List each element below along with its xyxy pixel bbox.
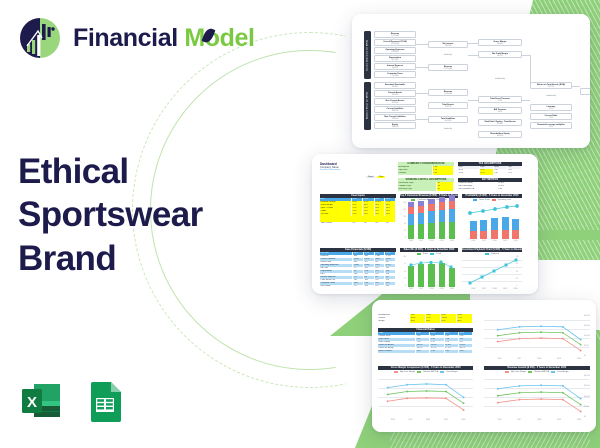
x-axis-labels: 20162017201820192020 xyxy=(468,240,521,242)
panel-ratios-table: Financial Ratios Ratio2017201820192020 C… xyxy=(378,328,473,353)
x-axis-labels: 20162017201820192020 xyxy=(406,240,457,242)
x-axis-labels: 20162017201820192020 xyxy=(490,419,589,421)
tree-node: Current Ratio2.04 xyxy=(530,113,572,120)
dupont-sheet: Income Statement (in $000) Balance Sheet… xyxy=(352,14,590,148)
x-axis-labels: 20162017201820192020 xyxy=(490,358,589,360)
brand-name: Financial Model xyxy=(73,26,255,51)
tree-connector xyxy=(572,86,580,87)
tree-node: Total Liabilities401,300 xyxy=(428,116,468,123)
tree-node: Cost of Revenue (COGS)(674,000) xyxy=(374,39,416,46)
dashboard-buttons[interactable]: Reset Print xyxy=(366,176,385,178)
svg-text:X: X xyxy=(27,394,37,411)
brand-logo: Financial Model xyxy=(18,16,255,60)
tree-connector xyxy=(522,100,530,101)
tree-node: Current Liabilities168,200 xyxy=(374,106,416,113)
tree-side-label-income-statement: Income Statement (in $000) xyxy=(364,31,371,79)
stacked-bar-chart: 20016012080400 20162017201820192020 xyxy=(400,202,458,242)
combo-bar-chart: 20162017201820192020 xyxy=(462,202,522,242)
panel-case-inputs: Case Inputs Item2017201820192020 Revenue… xyxy=(320,194,396,225)
bar xyxy=(428,199,434,239)
tree-connector xyxy=(468,43,478,44)
microsoft-excel-icon[interactable]: X xyxy=(18,378,64,424)
ratios-sheet: Assumptions2017201820192020 Growth8.0%9.… xyxy=(372,300,596,432)
panel-sales-mix: Sales Mix ($ 000) - 5 Years to December … xyxy=(400,248,458,292)
line-chart-ebitda-top: $20,000$15,000$10,000$5,000$0 2016201720… xyxy=(484,314,590,360)
tree-node: Interest Expense(8,970) xyxy=(374,63,416,70)
panel-tax-assumptions: TAX ASSUMPTIONS YearRateBaseNet 201921%1… xyxy=(458,162,522,175)
tree-node: Non Current Liabilities233,100 xyxy=(374,114,416,121)
panel-ebitda-chart: $20,000$15,000$10,000$5,000$0 2016201720… xyxy=(484,314,590,364)
poster-canvas: Financial Model Ethical Sportswear Brand… xyxy=(0,0,600,448)
bar xyxy=(439,197,445,239)
brand-name-part2: Model xyxy=(184,24,254,52)
line-chart: 1209060300 20162017201820192020 xyxy=(462,256,522,290)
tree-connector xyxy=(416,67,428,68)
tree-operator: multiplied by xyxy=(478,77,522,82)
brand-name-part1: Financial xyxy=(73,24,178,52)
tree-node: Return on Total Assets (ROA)21.79% xyxy=(530,82,572,89)
tree-node: Depreciation(11,200) xyxy=(374,55,416,62)
google-sheets-icon[interactable] xyxy=(82,378,128,424)
tree-node: Total Assets761,700 xyxy=(428,102,468,109)
page-title: Ethical Sportswear Brand xyxy=(18,150,268,280)
screenshot-card-financial-ratios[interactable]: Assumptions2017201820192020 Growth8.0%9.… xyxy=(372,300,596,432)
tree-node: Financial Leverage multiplier2.11x xyxy=(530,122,572,129)
tree-node: Operating Expenses(211,500) xyxy=(374,47,416,54)
panel-working-capital: WORKING CAPITAL ASSUMPTIONS Receivable D… xyxy=(398,178,454,191)
line-chart-revenue-growth: $20,000$15,000$10,000$5,000$0 2016201720… xyxy=(484,375,590,421)
dashboard-sheet: Dashboard Company Name Financial Informa… xyxy=(312,154,538,294)
tree-node: Revenue1,125,000 xyxy=(428,89,468,96)
tree-connector xyxy=(530,55,531,86)
tree-connector xyxy=(468,55,478,56)
panel-ratio-inputs: Assumptions2017201820192020 Growth8.0%9.… xyxy=(378,314,473,323)
tree-node: Total Debt / Equity + Total Assets52.68% xyxy=(478,119,522,126)
tree-node: Gross Margin40.09% xyxy=(478,39,522,46)
reset-button[interactable]: Reset xyxy=(366,176,375,178)
bar xyxy=(418,201,424,240)
panel-key-metrics: KEY METRICS Revenue CAGR12.4% EBITDA Mar… xyxy=(458,178,522,191)
tree-operator: multiplied by xyxy=(530,94,572,99)
tree-operator: divided by xyxy=(428,53,468,58)
overlay-line xyxy=(462,202,522,242)
bar xyxy=(449,195,455,239)
dashboard-header: Dashboard Company Name Financial Informa… xyxy=(320,162,340,171)
tree-node: Net Income166,000 xyxy=(428,41,468,48)
tree-connector xyxy=(416,44,428,45)
print-button[interactable]: Print xyxy=(377,176,385,178)
lines xyxy=(484,314,590,359)
panel-investment-payback: Investment Payback Chart ($ 000) - 5 Yea… xyxy=(462,248,522,292)
panel-gross-margin-chart: Gross Margin Comparison ($ 000) - 5 Year… xyxy=(378,366,473,424)
ratios-right-column: $20,000$15,000$10,000$5,000$0 2016201720… xyxy=(480,300,596,432)
tree-node: Revenue1,125,000 xyxy=(374,31,416,38)
tree-operator: divided by xyxy=(428,127,468,132)
tree-node: Revenue1,125,000 xyxy=(428,64,468,71)
tree-node: A/R Turnover13.31 xyxy=(478,107,522,114)
tree-connector xyxy=(416,93,428,94)
page-title-line-1: Ethical xyxy=(18,150,268,193)
tree-node: Accounts Receivable84,500 xyxy=(374,82,416,89)
tree-connector xyxy=(522,55,530,56)
panel-currency-conversion: CURRENCY CONVERSION RATE Assumption1.00 … xyxy=(398,162,454,175)
panel-top5-customer-revenue: Top 5 Customer Revenue ($ 000) - 5 Years… xyxy=(400,194,458,244)
tree-node: Total Asset Turnover1.48 xyxy=(478,96,522,103)
screenshot-card-dashboard[interactable]: Dashboard Company Name Financial Informa… xyxy=(312,154,538,294)
bar-group xyxy=(406,203,457,239)
x-axis-labels: 20162017201820192020 xyxy=(468,288,521,290)
dashboard-subtitle2: Financial Information xyxy=(320,169,340,171)
tree-connector xyxy=(416,119,428,120)
lines xyxy=(484,375,590,420)
panel-revenue-growth-chart: Revenue Growth ($ 000) - 5 Years to Dece… xyxy=(484,366,590,424)
tree-node: Leverage2.11x xyxy=(530,104,572,111)
tree-node-roe: Return on Equity (ROE)46.06% xyxy=(580,88,590,95)
tree-side-label-balance-sheet: Balance Sheet (in $000) xyxy=(364,82,371,130)
payback-line xyxy=(462,256,522,290)
chart-legend: Mgt Case Margin Relative EBITDA Case Mar… xyxy=(484,371,590,374)
tree-node: Equity360,400 xyxy=(374,122,416,129)
panel-profitability: Profitability ($ 000) - 5 Years to Decem… xyxy=(462,194,522,244)
tree-node: Net Profit Margin14.75% xyxy=(478,51,522,58)
lines xyxy=(378,375,473,420)
page-title-line-2: Sportswear xyxy=(18,193,268,236)
tree-node: Corporate Taxes(52,330) xyxy=(374,71,416,78)
tree-node: Non Current Assets418,900 xyxy=(374,98,416,105)
dupont-tree-diagram: Income Statement (in $000) Balance Sheet… xyxy=(352,14,590,148)
tree-node: Current Assets342,800 xyxy=(374,90,416,97)
x-axis-labels: 20162017201820192020 xyxy=(406,288,457,290)
tree-connector xyxy=(468,100,478,101)
financial-model-circle-logo-icon xyxy=(18,16,62,60)
overlay-line xyxy=(400,256,458,290)
tree-node: Shareholders Equity360,400 xyxy=(478,131,522,138)
ratios-left-column: Assumptions2017201820192020 Growth8.0%9.… xyxy=(372,300,477,432)
x-axis-labels: 20162017201820192020 xyxy=(384,419,472,421)
file-format-icons: X xyxy=(18,378,128,424)
bar-line-chart: 1007550250 20162 xyxy=(400,256,458,290)
line-chart-gross-margin: 20162017201820192020 xyxy=(378,375,473,421)
bar xyxy=(408,202,414,239)
panel-case-financials: Case Financials ($ 000) Line Item2017201… xyxy=(320,248,396,288)
chart-legend: Mgt Case Margin Relative EBITDA Case Mar… xyxy=(378,371,473,374)
screenshot-card-dupont-tree[interactable]: Income Statement (in $000) Balance Sheet… xyxy=(352,14,590,148)
page-title-line-3: Brand xyxy=(18,237,268,280)
